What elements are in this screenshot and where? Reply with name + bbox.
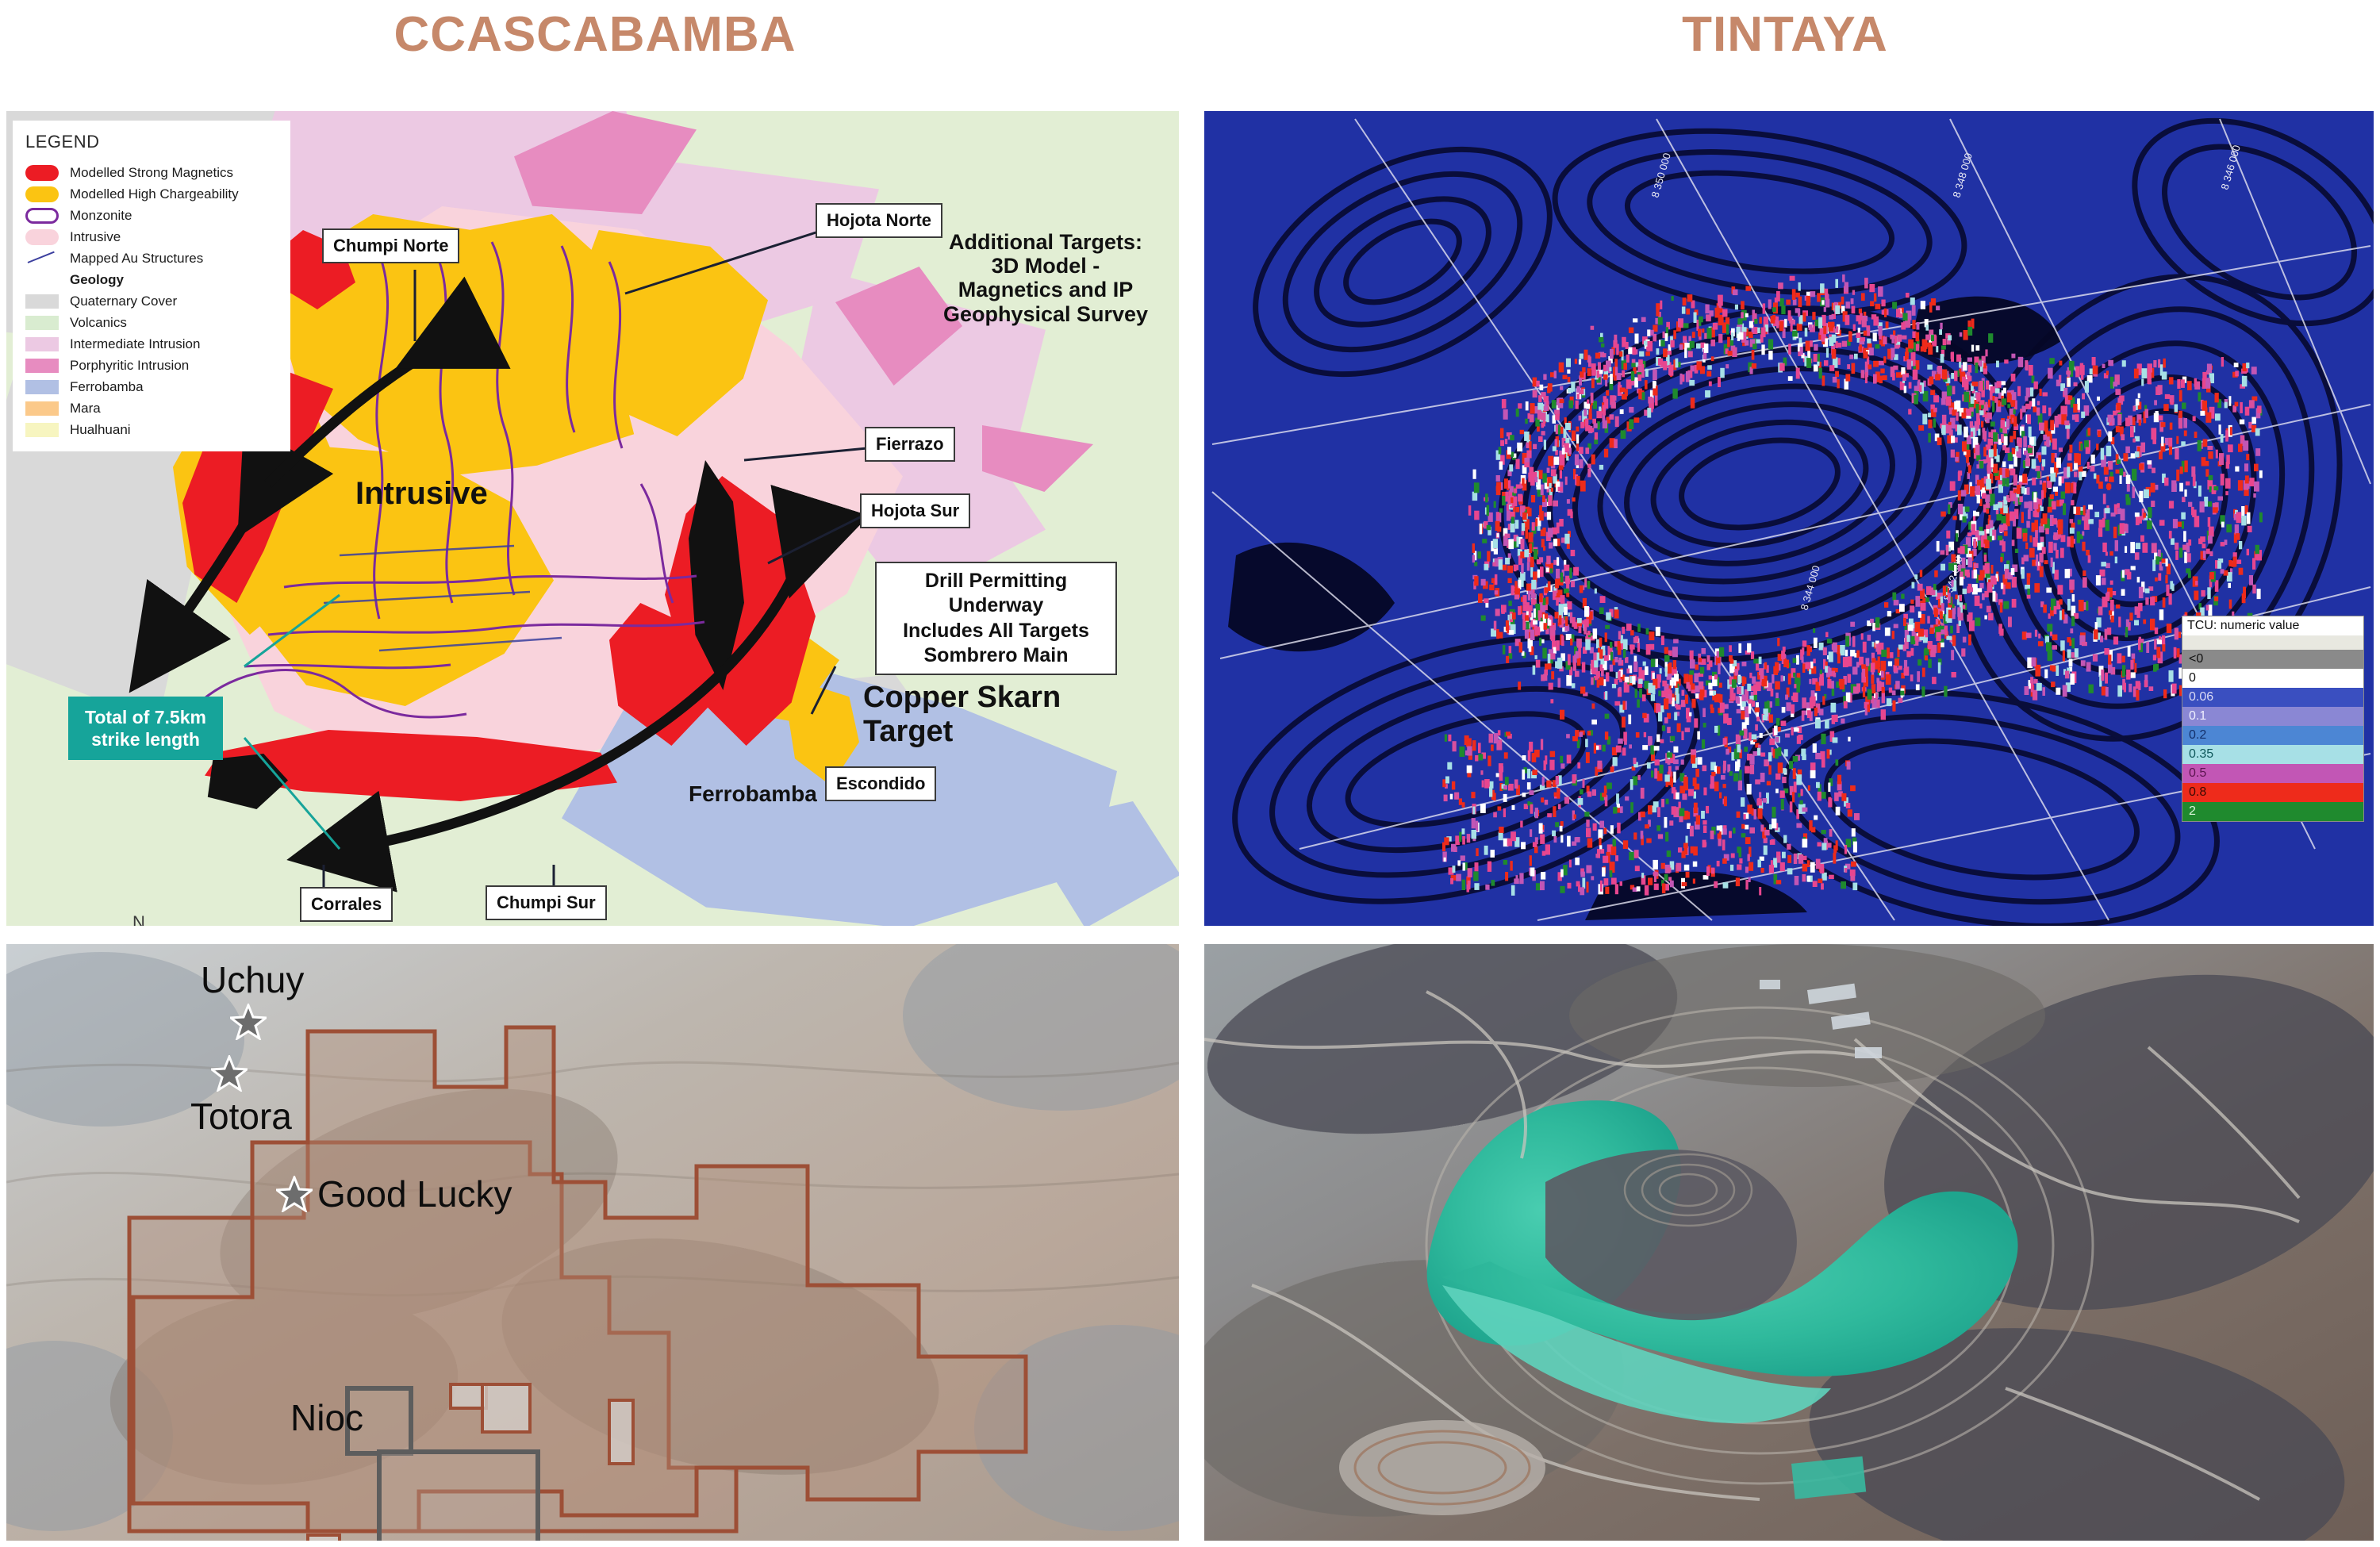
north-letter: N [125,914,152,926]
legend-label: Mapped Au Structures [70,251,203,267]
target-star-totora [211,1055,248,1092]
geology-target-map[interactable]: LEGEND Modelled Strong Magnetics Modelle… [6,111,1179,926]
swatch-porphyritic-intrusion [25,359,59,373]
callout-strike-length: Total of 7.5km strike length [68,697,223,760]
swatch-spacer [25,273,59,287]
map-legend: LEGEND Modelled Strong Magnetics Modelle… [13,121,290,451]
legend-label: Intermediate Intrusion [70,336,200,352]
legend-item-porphyritic-intrusion: Porphyritic Intrusion [25,355,279,376]
swatch-intrusive [25,229,59,245]
tcu-row-2[interactable]: 2 [2182,802,2363,821]
target-label-chumpi-norte[interactable]: Chumpi Norte [322,228,459,263]
tcu-row-05[interactable]: 0.5 [2182,764,2363,783]
tcu-row-01[interactable]: 0.1 [2182,707,2363,726]
swatch-mapped-au-structures [25,251,59,266]
target-label-chumpi-sur[interactable]: Chumpi Sur [486,885,607,920]
annotation-additional-targets: Additional Targets: 3D Model - Magnetics… [927,230,1165,326]
page-title-ccascabamba: CCASCABAMBA [0,6,1190,63]
claim-boundary-overlay [6,944,1179,1541]
annotation-intrusive: Intrusive [355,476,488,512]
legend-label: Quaternary Cover [70,294,177,309]
swatch-volcanics [25,316,59,330]
claim-label-good-lucky: Good Lucky [317,1173,512,1215]
target-label-hojota-sur[interactable]: Hojota Sur [860,493,970,528]
legend-title: LEGEND [25,132,279,152]
geophysics-3d-model[interactable]: 8 350 000 8 348 000 8 346 000 8 344 000 … [1204,111,2374,926]
claim-label-nioc: Nioc [290,1396,363,1439]
target-label-fierrazo[interactable]: Fierrazo [865,427,955,462]
tcu-legend-spacer [2182,635,2363,650]
target-star-uchuy [230,1004,267,1040]
legend-label: Hualhuani [70,422,131,438]
target-label-escondido[interactable]: Escondido [825,766,936,801]
legend-item-hualhuani: Hualhuani [25,419,279,440]
annotation-copper-skarn-target: Copper Skarn Target [863,681,1125,748]
tintaya-open-pit-photo [1204,944,2374,1541]
claim-label-uchuy: Uchuy [201,958,304,1001]
legend-label: Volcanics [70,315,127,331]
north-arrow: N [125,914,152,926]
legend-label: Porphyritic Intrusion [70,358,189,374]
swatch-ferrobamba [25,380,59,394]
swatch-mara [25,401,59,416]
tcu-row-lt0[interactable]: <0 [2182,650,2363,669]
legend-label: Intrusive [70,229,121,245]
slide-root: CCASCABAMBA TINTAYA [0,0,2380,1547]
target-box-ccascabamba [379,1452,538,1541]
legend-item-quaternary-cover: Quaternary Cover [25,290,279,312]
tcu-row-035[interactable]: 0.35 [2182,745,2363,764]
swatch-monzonite [25,208,59,224]
swatch-high-chargeability [25,186,59,202]
tcu-legend-title: TCU: numeric value [2182,616,2363,635]
swatch-hualhuani [25,423,59,437]
legend-subheader-geology: Geology [25,269,279,290]
tcu-row-02[interactable]: 0.2 [2182,726,2363,745]
swatch-quaternary-cover [25,294,59,309]
swatch-strong-magnetics [25,165,59,181]
target-label-corrales[interactable]: Corrales [300,887,393,922]
target-label-hojota-norte[interactable]: Hojota Norte [816,203,942,238]
tcu-legend[interactable]: TCU: numeric value <0 0 0.06 0.1 0.2 0.3… [2182,616,2364,822]
annotation-drill-permitting: Drill Permitting Underway Includes All T… [875,562,1117,675]
legend-label: Monzonite [70,208,132,224]
legend-item-strong-magnetics: Modelled Strong Magnetics [25,162,279,183]
open-pit-aerial-image [1204,944,2374,1541]
legend-item-high-chargeability: Modelled High Chargeability [25,183,279,205]
target-star-good-lucky [276,1176,313,1212]
swatch-intermediate-intrusion [25,337,59,351]
legend-label: Modelled Strong Magnetics [70,165,233,181]
tcu-row-0[interactable]: 0 [2182,669,2363,688]
legend-label: Ferrobamba [70,379,144,395]
claims-concession-map[interactable]: Uchuy Totora Good Lucky Nioc Ccascabamba [6,944,1179,1541]
legend-item-mapped-au-structures: Mapped Au Structures [25,248,279,269]
legend-item-ferrobamba: Ferrobamba [25,376,279,397]
annotation-ferrobamba: Ferrobamba [689,781,817,806]
legend-item-volcanics: Volcanics [25,312,279,333]
legend-label: Mara [70,401,101,416]
tcu-row-08[interactable]: 0.8 [2182,783,2363,802]
legend-label: Geology [70,272,124,288]
legend-item-monzonite: Monzonite [25,205,279,226]
legend-label: Modelled High Chargeability [70,186,239,202]
legend-item-mara: Mara [25,397,279,419]
page-title-tintaya: TINTAYA [1190,6,2380,63]
legend-item-intrusive: Intrusive [25,226,279,248]
legend-item-intermediate-intrusion: Intermediate Intrusion [25,333,279,355]
claim-label-totora: Totora [190,1095,292,1138]
tailings-pond [1791,1457,1866,1499]
tcu-row-006[interactable]: 0.06 [2182,688,2363,707]
